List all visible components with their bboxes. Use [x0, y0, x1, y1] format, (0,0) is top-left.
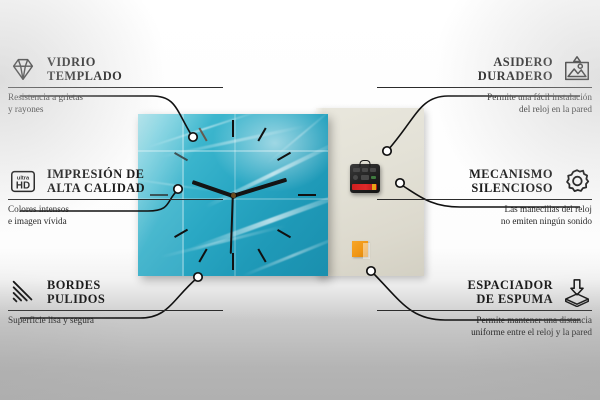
clock-tick [198, 248, 207, 262]
mechanism-detail [361, 175, 369, 180]
title-divider [377, 199, 592, 200]
foam-spacer [352, 241, 368, 257]
hanging-frame-icon [562, 54, 592, 84]
feature-asidero-duradero: ASIDERO DURADERO Permite una fácil insta… [377, 54, 592, 115]
feature-mecanismo-silencioso: MECANISMO SILENCIOSO Las manecillas del … [377, 166, 592, 227]
feature-title: BORDES PULIDOS [47, 278, 105, 307]
feature-header: ASIDERO DURADERO [377, 54, 592, 84]
feature-title: VIDRIO TEMPLADO [47, 55, 122, 84]
diamond-icon [8, 54, 38, 84]
mechanism-detail [353, 168, 360, 172]
clock-tick [232, 253, 234, 270]
mechanism-detail [353, 175, 358, 180]
clock-tick [232, 120, 234, 137]
feature-vidrio-templado: VIDRIO TEMPLADO Resistencia a grietas y … [8, 54, 223, 115]
gear-icon [562, 166, 592, 196]
feature-desc-line1: Permite una fácil instalación [377, 92, 592, 103]
infographic-canvas: VIDRIO TEMPLADO Resistencia a grietas y … [0, 0, 600, 400]
title-divider [8, 87, 223, 88]
feather-streak [266, 114, 328, 165]
clock-tick [277, 229, 291, 238]
feature-desc-line2: del reloj en la pared [377, 104, 592, 115]
clock-tick [257, 248, 266, 262]
title-divider [377, 87, 592, 88]
feature-desc-line1: Colores intensos [8, 204, 223, 215]
feature-desc-line2: e imagen vívida [8, 216, 223, 227]
feature-header: MECANISMO SILENCIOSO [377, 166, 592, 196]
mechanism-detail [371, 176, 376, 179]
feature-desc-line2: y rayones [8, 104, 223, 115]
clock-tick [298, 194, 316, 197]
feature-title: IMPRESIÓN DE ALTA CALIDAD [47, 167, 145, 196]
feature-header: ESPACIADOR DE ESPUMA [377, 277, 592, 307]
mechanism-detail [362, 168, 368, 172]
battery [352, 184, 377, 190]
feature-impresion-alta-calidad: ultra HD IMPRESIÓN DE ALTA CALIDAD Color… [8, 166, 223, 227]
feather-streak [241, 234, 328, 276]
feature-title: MECANISMO SILENCIOSO [469, 167, 553, 196]
ultra-hd-icon: ultra HD [8, 166, 38, 196]
title-divider [8, 199, 223, 200]
feature-desc-line2: uniforme entre el reloj y la pared [377, 327, 592, 338]
feature-desc-line1: Permite mantener una distancia [377, 315, 592, 326]
feature-desc-line1: Las manecillas del reloj [377, 204, 592, 215]
feature-title: ESPACIADOR DE ESPUMA [467, 278, 553, 307]
feature-desc-line1: Superficie lisa y segura [8, 315, 223, 326]
mechanism-detail [370, 168, 376, 172]
svg-text:HD: HD [16, 181, 30, 192]
clock-center-hub [231, 193, 236, 198]
feature-desc-line2: no emiten ningún sonido [377, 216, 592, 227]
feature-header: ultra HD IMPRESIÓN DE ALTA CALIDAD [8, 166, 223, 196]
feature-header: BORDES PULIDOS [8, 277, 223, 307]
clock-mechanism [350, 164, 380, 193]
feature-desc-line1: Resistencia a grietas [8, 92, 223, 103]
foam-spacer-icon [562, 277, 592, 307]
mechanism-hanger-icon [360, 160, 371, 167]
title-divider [8, 310, 223, 311]
feature-bordes-pulidos: BORDES PULIDOS Superficie lisa y segura [8, 277, 223, 327]
polished-edges-icon [8, 277, 38, 307]
feature-espaciador-de-espuma: ESPACIADOR DE ESPUMA Permite mantener un… [377, 277, 592, 338]
feature-title: ASIDERO DURADERO [478, 55, 553, 84]
feature-header: VIDRIO TEMPLADO [8, 54, 223, 84]
title-divider [377, 310, 592, 311]
